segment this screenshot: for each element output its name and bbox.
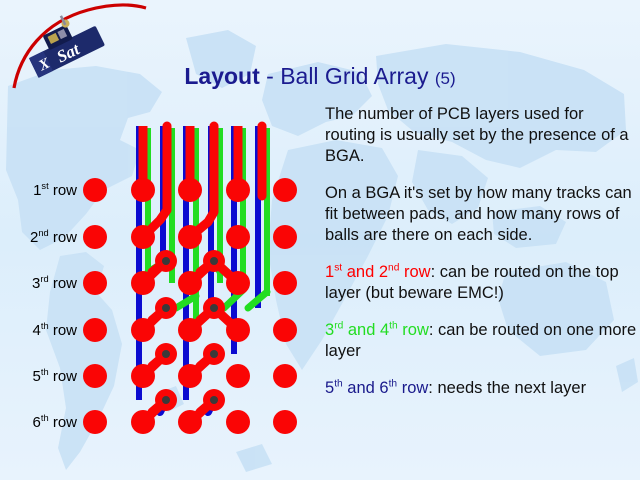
via-drill xyxy=(210,396,218,404)
via-drill xyxy=(162,304,170,312)
ball-pad xyxy=(226,318,250,342)
ball-pad xyxy=(131,225,155,249)
ball-pad xyxy=(83,271,107,295)
ball-pad xyxy=(273,364,297,388)
rows-5-6-rest: : needs the next layer xyxy=(428,379,586,397)
ball-pad xyxy=(273,271,297,295)
body-text-column: The number of PCB layers used for routin… xyxy=(325,104,637,415)
ball-pad xyxy=(178,318,202,342)
via-drill xyxy=(162,257,170,265)
ball-pad xyxy=(178,271,202,295)
ball-pad xyxy=(131,178,155,202)
ball-pad xyxy=(226,410,250,434)
ball-pad xyxy=(83,225,107,249)
ball-pad xyxy=(178,178,202,202)
ball-pad xyxy=(226,178,250,202)
paragraph-bga-tracks: On a BGA it's set by how many tracks can… xyxy=(325,183,637,246)
red-layer-row2-traces xyxy=(143,126,285,237)
rows-1-2-lead: 1st and 2nd row xyxy=(325,263,431,281)
ball-pad xyxy=(226,225,250,249)
ball-pad xyxy=(273,225,297,249)
ball-pad xyxy=(131,364,155,388)
rows-5-6-lead: 5th and 6th row xyxy=(325,379,428,397)
via-drill xyxy=(210,257,218,265)
paragraph-rows-3-4: 3rd and 4th row: can be routed on one mo… xyxy=(325,320,637,362)
via-drill xyxy=(210,304,218,312)
ball-pad xyxy=(226,271,250,295)
ball-pad xyxy=(273,318,297,342)
ball-pad xyxy=(131,271,155,295)
paragraph-rows-1-2: 1st and 2nd row: can be routed on the to… xyxy=(325,262,637,304)
paragraph-pcb-layers: The number of PCB layers used for routin… xyxy=(325,104,637,167)
ball-pad xyxy=(178,410,202,434)
via-drill xyxy=(162,350,170,358)
ball-pad xyxy=(226,364,250,388)
ball-pad xyxy=(83,410,107,434)
rows-3-4-lead: 3rd and 4th row xyxy=(325,321,429,339)
slide: X Sat Layout - Ball Grid Array (5) 1st r… xyxy=(0,0,640,480)
ball-pad xyxy=(83,318,107,342)
ball-pad xyxy=(83,364,107,388)
paragraph-rows-5-6: 5th and 6th row: needs the next layer xyxy=(325,378,637,399)
via-drill xyxy=(162,396,170,404)
ball-pad xyxy=(83,178,107,202)
ball-pad xyxy=(273,178,297,202)
ball-pad xyxy=(131,318,155,342)
ball-pad xyxy=(131,410,155,434)
ball-pad xyxy=(178,364,202,388)
via-drill xyxy=(210,350,218,358)
ball-pad xyxy=(178,225,202,249)
ball-pad xyxy=(273,410,297,434)
